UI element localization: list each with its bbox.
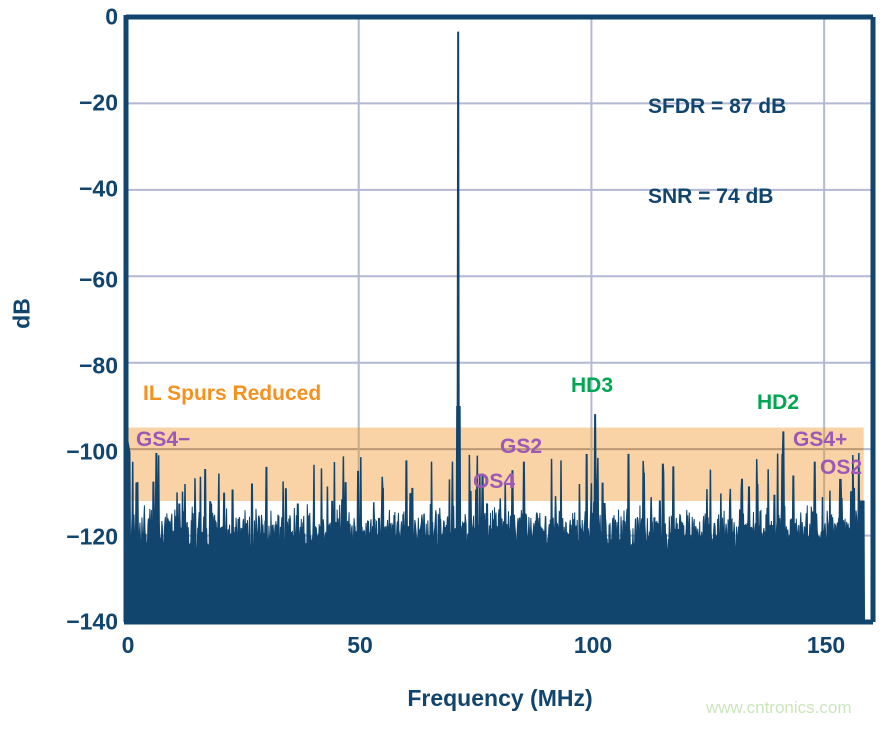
y-tick-m60: −60: [18, 267, 118, 294]
stats-annotation: SFDR = 87 dB SNR = 74 dB: [648, 32, 786, 272]
hd2-label: HD2: [757, 391, 799, 415]
watermark: www.cntronics.com: [706, 698, 851, 718]
y-tick-m80: −80: [18, 353, 118, 380]
os2-label: OS2: [820, 456, 862, 480]
x-tick-150: 150: [786, 632, 866, 659]
sfdr-value: SFDR = 87 dB: [648, 92, 786, 122]
hd3-label: HD3: [571, 374, 613, 398]
snr-value: SNR = 74 dB: [648, 182, 786, 212]
x-tick-0: 0: [88, 632, 168, 659]
y-tick-labels: 0 −20 −40 −60 −80 −100 −120 −140: [0, 0, 118, 729]
y-tick-0: 0: [18, 4, 118, 31]
fft-spectrum-figure: dB 0 −20 −40 −60 −80 −100 −120 −140 0 50…: [0, 0, 896, 729]
x-tick-50: 50: [320, 632, 400, 659]
y-tick-m40: −40: [18, 176, 118, 203]
y-tick-m20: −20: [18, 90, 118, 117]
gs4-minus-label: GS4−: [136, 428, 190, 452]
il-spurs-reduced-label: IL Spurs Reduced: [143, 382, 321, 406]
y-tick-m120: −120: [18, 524, 118, 551]
os4-label: OS4: [473, 470, 515, 494]
x-tick-100: 100: [553, 632, 633, 659]
gs2-label: GS2: [500, 435, 542, 459]
gs4-plus-label: GS4+: [793, 428, 847, 452]
y-tick-m100: −100: [18, 439, 118, 466]
